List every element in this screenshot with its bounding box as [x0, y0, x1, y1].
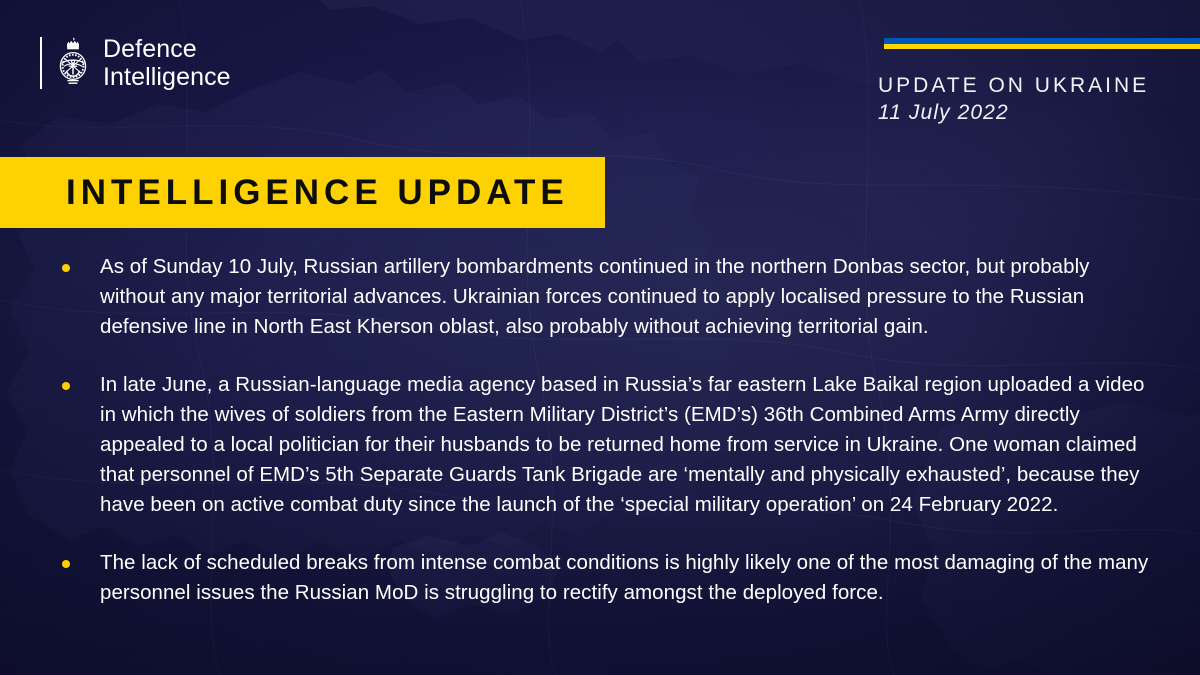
logo-line-defence: Defence: [103, 35, 231, 63]
bullet-text: As of Sunday 10 July, Russian artillery …: [100, 252, 1152, 342]
defence-intelligence-logo: Defence Intelligence: [40, 33, 231, 93]
bullet-list: As of Sunday 10 July, Russian artillery …: [62, 252, 1152, 608]
bullet-dot-icon: [62, 264, 70, 272]
flag-stripe-yellow: [884, 44, 1200, 50]
vertical-rule-icon: [40, 37, 42, 89]
intelligence-update-poster: Defence Intelligence UPDATE ON UKRAINE 1…: [0, 0, 1200, 675]
banner-label: INTELLIGENCE UPDATE: [66, 173, 569, 213]
bullet-dot-icon: [62, 382, 70, 390]
ukraine-flag-bar-icon: [884, 38, 1200, 49]
list-item: As of Sunday 10 July, Russian artillery …: [62, 252, 1152, 342]
list-item: The lack of scheduled breaks from intens…: [62, 548, 1152, 608]
bullet-text: The lack of scheduled breaks from intens…: [100, 548, 1152, 608]
update-on-ukraine-title: UPDATE ON UKRAINE: [878, 74, 1149, 98]
update-date: 11 July 2022: [878, 101, 1009, 125]
bullet-dot-icon: [62, 560, 70, 568]
logo-line-intelligence: Intelligence: [103, 63, 231, 91]
mod-tri-service-crest-icon: [55, 35, 91, 91]
intelligence-update-banner: INTELLIGENCE UPDATE: [0, 157, 605, 228]
logo-wordmark: Defence Intelligence: [103, 35, 231, 91]
list-item: In late June, a Russian-language media a…: [62, 370, 1152, 520]
bullet-text: In late June, a Russian-language media a…: [100, 370, 1152, 520]
